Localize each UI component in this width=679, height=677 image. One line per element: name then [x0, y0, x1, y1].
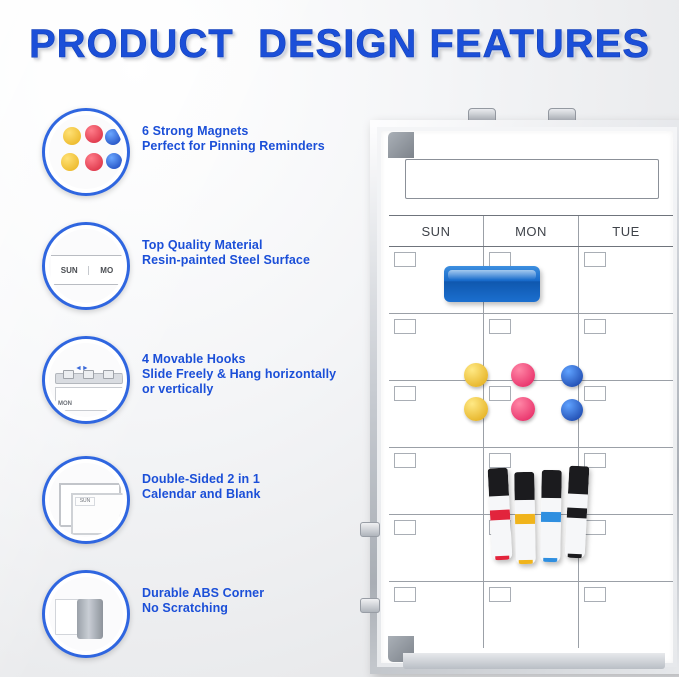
abs-corner-piece — [77, 599, 103, 639]
date-box — [489, 252, 511, 267]
day-header-sun: SUN — [389, 216, 484, 246]
feature-material: SUN MO Top Quality Material Resin-painte… — [42, 222, 362, 308]
date-box — [394, 252, 416, 267]
slide-arrow-icon: ◄► — [75, 365, 89, 372]
magnet-blue — [106, 153, 122, 169]
magnet-blue — [105, 129, 121, 145]
board-edge — [55, 387, 123, 411]
abs-corner-icon — [42, 570, 130, 658]
feature-line: or vertically — [142, 382, 336, 397]
yellow-marker[interactable] — [514, 472, 536, 564]
marker-color-band — [567, 507, 587, 518]
calendar-cell[interactable] — [579, 381, 673, 447]
magnetic-eraser[interactable] — [444, 266, 540, 302]
blue-marker[interactable] — [540, 470, 562, 562]
feature-abs-corner: Durable ABS Corner No Scratching — [42, 570, 362, 656]
movable-hook — [103, 370, 114, 379]
marker-tray — [403, 653, 665, 669]
marker-tip — [567, 554, 582, 559]
marker-cap — [541, 470, 562, 500]
calendar-cell[interactable] — [579, 448, 673, 514]
movable-hook[interactable] — [360, 522, 380, 537]
date-box — [584, 520, 606, 535]
magnet-yellow — [61, 153, 79, 171]
calendar-cell[interactable] — [579, 582, 673, 648]
feature-line: Calendar and Blank — [142, 487, 261, 502]
calendar-cell[interactable] — [389, 515, 484, 581]
marker-color-band — [490, 509, 510, 520]
marker-cap — [514, 472, 535, 502]
mini-day-label: MON — [58, 401, 72, 407]
feature-hooks-text: 4 Movable Hooks Slide Freely & Hang hori… — [142, 352, 336, 397]
feature-double-sided: SUN Double-Sided 2 in 1 Calendar and Bla… — [42, 456, 362, 542]
mini-calendar-strip: SUN MO — [51, 255, 123, 285]
feature-hooks: ◄► MON 4 Movable Hooks Slide Freely & Ha… — [42, 336, 362, 422]
magnet-yellow — [63, 127, 81, 145]
whiteboard: SUN MON TUE — [352, 108, 670, 668]
mini-day-label: SUN — [51, 266, 89, 275]
pink-magnet[interactable] — [511, 363, 535, 387]
date-box — [584, 319, 606, 334]
marker-body — [565, 494, 588, 559]
page-title: PRODUCT DESIGN FEATURES — [0, 22, 679, 67]
pink-magnet[interactable] — [511, 397, 535, 421]
date-box — [394, 319, 416, 334]
feature-line: Durable ABS Corner — [142, 586, 264, 601]
feature-double-sided-text: Double-Sided 2 in 1 Calendar and Blank — [142, 472, 261, 502]
date-box — [584, 252, 606, 267]
feature-magnets-text: 6 Strong Magnets Perfect for Pinning Rem… — [142, 124, 325, 154]
calendar-cell[interactable] — [389, 448, 484, 514]
calendar-cell[interactable] — [579, 515, 673, 581]
feature-abs-corner-text: Durable ABS Corner No Scratching — [142, 586, 264, 616]
feature-line: Slide Freely & Hang horizontally — [142, 367, 336, 382]
marker-cap — [488, 468, 510, 499]
date-box — [394, 520, 416, 535]
board-side-b: SUN — [71, 493, 123, 535]
feature-line: Resin-painted Steel Surface — [142, 253, 310, 268]
date-box — [489, 587, 511, 602]
calendar-cell[interactable] — [579, 314, 673, 380]
day-header-mon: MON — [484, 216, 579, 246]
date-box — [489, 453, 511, 468]
yellow-magnet[interactable] — [464, 363, 488, 387]
marker-color-band — [515, 514, 535, 524]
feature-line: No Scratching — [142, 601, 264, 616]
feature-material-text: Top Quality Material Resin-painted Steel… — [142, 238, 310, 268]
magnet-red — [85, 153, 103, 171]
calendar-cell[interactable] — [579, 247, 673, 313]
date-box — [394, 587, 416, 602]
feature-line: 6 Strong Magnets — [142, 124, 325, 139]
mini-day-label: MO — [89, 266, 124, 275]
marker-body — [489, 496, 512, 561]
marker-tip — [519, 560, 533, 564]
movable-hook — [63, 370, 74, 379]
date-box — [489, 319, 511, 334]
magnet-red — [85, 125, 103, 143]
calendar-surface-icon: SUN MO — [42, 222, 130, 310]
feature-line: Double-Sided 2 in 1 — [142, 472, 261, 487]
hooks-icon: ◄► MON — [42, 336, 130, 424]
feature-line: 4 Movable Hooks — [142, 352, 336, 367]
blue-magnet[interactable] — [561, 365, 583, 387]
marker-body — [515, 500, 536, 564]
marker-tip — [543, 558, 557, 562]
date-box — [489, 386, 511, 401]
note-title-box[interactable] — [405, 159, 659, 199]
magnets-icon — [42, 108, 130, 196]
day-header-tue: TUE — [579, 216, 673, 246]
double-sided-icon: SUN — [42, 456, 130, 544]
date-box — [584, 386, 606, 401]
date-box — [394, 453, 416, 468]
marker-color-band — [541, 512, 561, 522]
calendar-cell[interactable] — [484, 582, 579, 648]
feature-line: Perfect for Pinning Reminders — [142, 139, 325, 154]
movable-hook[interactable] — [360, 598, 380, 613]
feature-magnets: 6 Strong Magnets Perfect for Pinning Rem… — [42, 108, 362, 194]
blue-magnet[interactable] — [561, 399, 583, 421]
date-box — [584, 587, 606, 602]
feature-line: Top Quality Material — [142, 238, 310, 253]
marker-body — [540, 498, 561, 562]
date-box — [394, 386, 416, 401]
calendar-week-row — [389, 582, 673, 648]
marker-cap — [568, 466, 590, 497]
yellow-magnet[interactable] — [464, 397, 488, 421]
calendar-header-row: SUN MON TUE — [389, 215, 673, 247]
mini-day-label: SUN — [75, 497, 95, 506]
abs-corner-top-left — [388, 132, 414, 158]
